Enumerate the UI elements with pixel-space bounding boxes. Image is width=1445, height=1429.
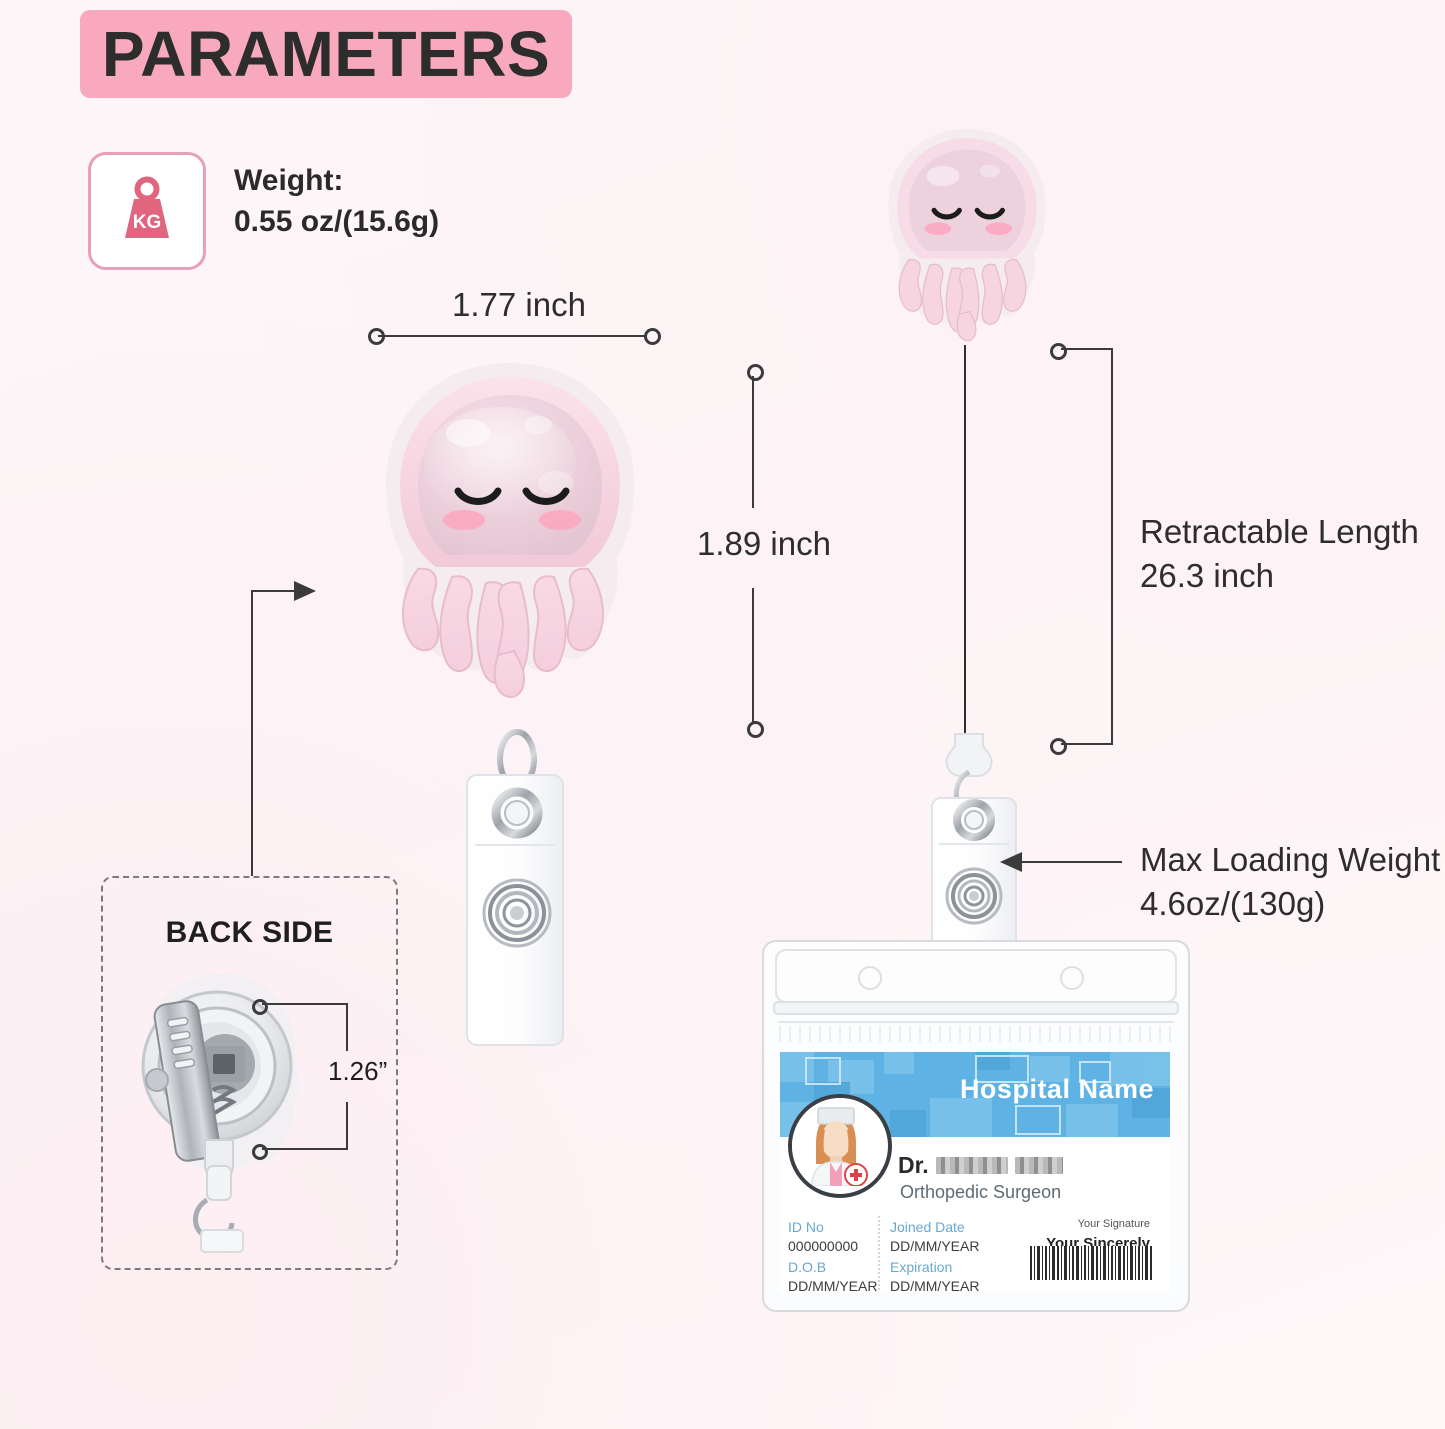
max-loading-weight-label: Max Loading Weight 4.6oz/(130g) (1140, 838, 1440, 925)
retractable-cord (964, 345, 966, 735)
id-card-print: Hospital Name (780, 1052, 1170, 1292)
page-title: PARAMETERS (102, 22, 550, 86)
weight-icon-box: KG (88, 152, 206, 270)
clip-depth-label: 1.26” (328, 1056, 387, 1087)
retractable-length-label: Retractable Length 26.3 inch (1140, 510, 1419, 597)
jellyfish-charm-main (360, 355, 660, 705)
jellyfish-charm-top (872, 120, 1062, 350)
arrow-right-icon (292, 581, 316, 601)
doctor-name: Dr. (898, 1152, 1063, 1179)
kg-icon-label: KG (133, 212, 162, 233)
field-id-no: ID No 000000000 (788, 1218, 858, 1256)
doctor-avatar (788, 1094, 892, 1198)
doctor-prefix: Dr. (898, 1152, 929, 1179)
badge-reel-backside-illustration (121, 954, 331, 1254)
doctor-name-redacted-first (936, 1157, 1008, 1174)
badge-strap-clip-main (455, 715, 605, 1075)
kg-weight-icon: KG (116, 176, 178, 247)
field-expiration: Expiration DD/MM/YEAR (890, 1258, 979, 1292)
backside-inset-panel: BACK SIDE (101, 876, 398, 1270)
card-sleeve-top (762, 940, 1190, 1052)
weight-text-group: Weight: 0.55 oz/(15.6g) (234, 152, 439, 243)
weight-value: 0.55 oz/(15.6g) (234, 201, 439, 242)
field-joined-date: Joined Date DD/MM/YEAR (890, 1218, 979, 1256)
doctor-name-redacted-last (1015, 1157, 1063, 1174)
width-dimension-label: 1.77 inch (452, 286, 586, 324)
doctor-title: Orthopedic Surgeon (900, 1182, 1061, 1203)
signature-caption: Your Signature (1078, 1218, 1150, 1230)
backside-title: BACK SIDE (103, 916, 396, 950)
height-dimension-label: 1.89 inch (697, 525, 831, 563)
arrow-left-icon (1000, 852, 1024, 872)
barcode (1028, 1246, 1154, 1280)
weight-label: Weight: (234, 160, 439, 201)
id-card-holder: Hospital Name (762, 940, 1190, 1312)
weight-spec: KG Weight: 0.55 oz/(15.6g) (88, 152, 439, 270)
hospital-name: Hospital Name (960, 1074, 1154, 1105)
field-divider (878, 1216, 880, 1292)
page-title-banner: PARAMETERS (80, 10, 572, 98)
field-dob: D.O.B DD/MM/YEAR (788, 1258, 877, 1292)
